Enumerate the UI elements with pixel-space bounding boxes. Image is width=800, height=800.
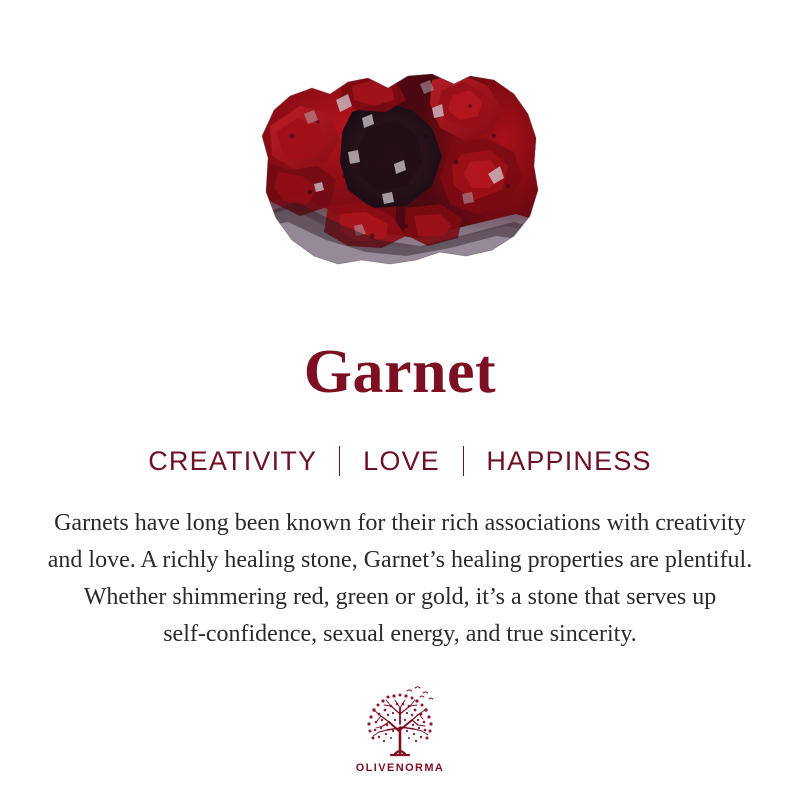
garnet-crystal-image (256, 66, 542, 272)
gemstone-info-card: Garnet CREATIVITY LOVE HAPPINESS Garnets… (0, 0, 800, 800)
page-title: Garnet (0, 336, 800, 408)
tree-of-life-icon (357, 684, 443, 760)
description-line: Whether shimmering red, green or gold, i… (18, 579, 782, 616)
keyword-line: CREATIVITY LOVE HAPPINESS (0, 444, 800, 478)
brand-logo: OLIVENORMA (0, 684, 800, 774)
description-line: and love. A richly healing stone, Garnet… (18, 542, 782, 579)
description-line: Garnets have long been known for their r… (18, 505, 782, 542)
keyword-separator-icon (339, 446, 340, 476)
keyword-love: LOVE (363, 446, 440, 476)
stone-body (256, 66, 542, 272)
keyword-separator-icon (463, 446, 464, 476)
description-paragraph: Garnets have long been known for their r… (18, 505, 782, 653)
description-line: self-confidence, sexual energy, and true… (18, 616, 782, 653)
hero-image-area (0, 40, 800, 290)
brand-wordmark: OLIVENORMA (0, 762, 800, 774)
keyword-happiness: HAPPINESS (486, 446, 651, 476)
keyword-creativity: CREATIVITY (148, 446, 317, 476)
